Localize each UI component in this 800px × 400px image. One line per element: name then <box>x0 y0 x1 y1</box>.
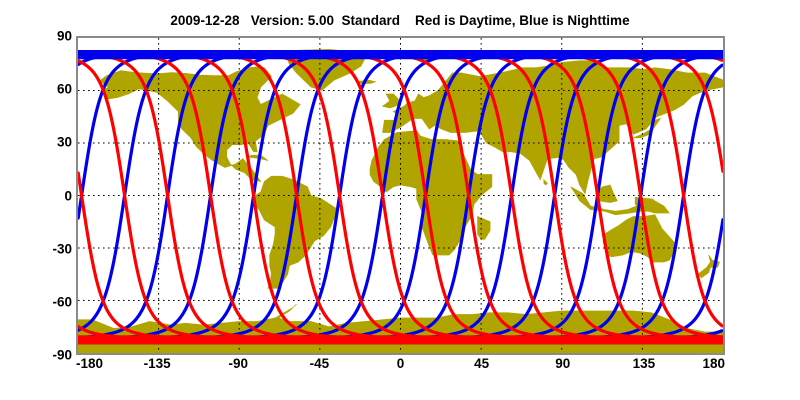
y-axis-ticks: 9060300-30-60-90 <box>22 36 72 355</box>
y-tick-label--60: -60 <box>30 294 72 309</box>
ground-track-canvas <box>78 38 723 353</box>
x-tick-label--90: -90 <box>228 356 248 371</box>
x-tick-label-0: 0 <box>397 356 405 371</box>
x-tick-label--135: -135 <box>144 356 171 371</box>
land-sri-lanka <box>544 180 548 185</box>
figure-title: 2009-12-28 Version: 5.00 Standard Red is… <box>0 13 800 28</box>
ground-track-figure: 2009-12-28 Version: 5.00 Standard Red is… <box>0 0 800 400</box>
x-tick-label-180: 180 <box>702 356 725 371</box>
x-tick-label-90: 90 <box>555 356 570 371</box>
x-tick-label--180: -180 <box>76 356 103 371</box>
y-tick-label-60: 60 <box>30 82 72 97</box>
x-tick-label-45: 45 <box>474 356 489 371</box>
x-tick-label-135: 135 <box>633 356 656 371</box>
land-madagascar <box>478 217 491 240</box>
y-tick-label-0: 0 <box>30 188 72 203</box>
land-australia <box>603 215 675 262</box>
y-tick-label--30: -30 <box>30 241 72 256</box>
map-plot-area <box>76 36 725 355</box>
x-axis-ticks: -180-135-90-4504590135180 <box>76 356 725 378</box>
y-tick-label--90: -90 <box>30 348 72 363</box>
y-tick-label-90: 90 <box>30 29 72 44</box>
x-tick-label--45: -45 <box>310 356 330 371</box>
y-tick-label-30: 30 <box>30 135 72 150</box>
